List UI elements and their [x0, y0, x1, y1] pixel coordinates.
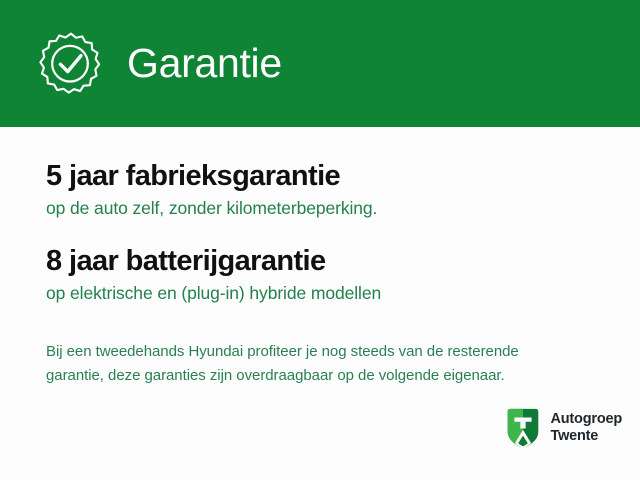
dealer-logo-text: Autogroep Twente [551, 411, 623, 444]
warranty-block-factory: 5 jaar fabrieksgarantie op de auto zelf,… [46, 160, 377, 219]
warranty-headline: 5 jaar fabrieksgarantie [46, 160, 377, 192]
transfer-note-line-2: garantie, deze garanties zijn overdraagb… [46, 364, 606, 388]
header-title: Garantie [127, 43, 282, 84]
warranty-block-battery: 8 jaar batterijgarantie op elektrische e… [46, 245, 381, 304]
transfer-note: Bij een tweedehands Hyundai profiteer je… [46, 340, 606, 389]
banner-header: Garantie [0, 0, 640, 127]
verified-badge-check-icon [38, 31, 104, 97]
battery-subline: op elektrische en (plug-in) hybride mode… [46, 283, 381, 304]
banner-content: 5 jaar fabrieksgarantie op de auto zelf,… [0, 127, 640, 480]
garantie-banner: Garantie 5 jaar fabrieksgarantie op de a… [0, 0, 640, 480]
dealer-name-line-1: Autogroep [551, 411, 623, 428]
dealer-logo: Autogroep Twente [503, 406, 623, 450]
autogroep-twente-shield-icon [503, 406, 543, 450]
warranty-subline: op de auto zelf, zonder kilometerbeperki… [46, 198, 377, 219]
dealer-name-line-2: Twente [551, 428, 623, 445]
battery-headline: 8 jaar batterijgarantie [46, 245, 381, 277]
transfer-note-line-1: Bij een tweedehands Hyundai profiteer je… [46, 340, 606, 364]
